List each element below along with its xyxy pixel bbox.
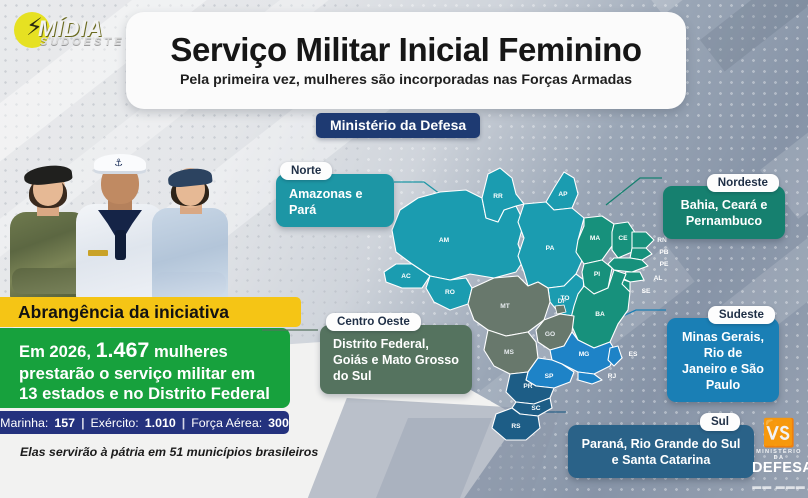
state-label-SP: SP <box>545 373 554 380</box>
state-label-SE: SE <box>642 288 651 295</box>
state-RN[interactable] <box>632 232 654 248</box>
statistic-line-1: Em 2026, 1.467 mulheres <box>19 337 278 364</box>
callout-sul-tag: Sul <box>700 413 740 431</box>
callout-nordeste-tag: Nordeste <box>707 174 779 192</box>
breakdown-label-exercito: Exército: <box>91 416 139 430</box>
state-label-RJ: RJ <box>608 373 617 380</box>
state-label-PI: PI <box>594 271 600 278</box>
state-label-MG: MG <box>579 351 590 358</box>
coat-of-arms-icon: 🆚​ <box>752 420 806 447</box>
military-women-photo: ⚓ <box>0 150 228 300</box>
state-label-GO: GO <box>545 331 555 338</box>
state-label-PA: PA <box>546 245 555 252</box>
breakdown-label-marinha: Marinha: <box>0 416 48 430</box>
callout-centro-oeste[interactable]: Centro Oeste Distrito Federal, Goiás e M… <box>320 325 472 394</box>
state-label-PE: PE <box>660 261 669 268</box>
state-label-AM: AM <box>439 237 450 244</box>
state-label-MS: MS <box>504 349 514 356</box>
navy-tie <box>115 230 126 260</box>
state-label-DF: DF <box>558 298 567 305</box>
state-label-AL: AL <box>654 275 663 282</box>
anchor-icon: ⚓ <box>114 159 123 169</box>
brazil-map-svg: RR AP AM PA AC RO TO MA CE PI BA RN PB P… <box>378 160 678 445</box>
state-label-CE: CE <box>618 235 628 242</box>
brazil-region-map: RR AP AM PA AC RO TO MA CE PI BA RN PB P… <box>378 160 678 445</box>
breakdown-value-exercito: 1.010 <box>145 416 176 430</box>
callout-sudeste-text: Minas Gerais, Rio de Janeiro e São Paulo <box>667 318 779 402</box>
callout-norte-text: Amazonas e Pará <box>276 174 394 227</box>
callout-norte-tag: Norte <box>280 162 332 180</box>
defesa-line2: DEFESA <box>752 461 806 476</box>
defesa-dashes: ▬▬ ▬▬▬ <box>752 481 806 491</box>
callout-centro-oeste-tag: Centro Oeste <box>326 313 421 331</box>
state-label-RO: RO <box>445 289 455 296</box>
person-airforce <box>152 170 228 300</box>
panel-footnote: Elas servirão à pátria em 51 municípios … <box>20 445 318 459</box>
state-label-ES: ES <box>629 351 638 358</box>
callout-nordeste-text: Bahia, Ceará e Pernambuco <box>663 186 785 239</box>
state-label-BA: BA <box>595 311 605 318</box>
callout-nordeste[interactable]: Nordeste Bahia, Ceará e Pernambuco <box>663 186 785 239</box>
callout-sudeste-tag: Sudeste <box>708 306 775 324</box>
callout-centro-oeste-text: Distrito Federal, Goiás e Mato Grosso do… <box>320 325 472 394</box>
statistic-line-2: prestarão o serviço militar em <box>19 364 278 385</box>
state-label-SC: SC <box>531 405 540 412</box>
callout-sul-text: Paraná, Rio Grande do Sul e Santa Catari… <box>568 425 754 478</box>
navy-nametag <box>88 250 108 256</box>
breakdown-separator: | <box>182 416 185 430</box>
title-card: Serviço Militar Inicial Feminino Pela pr… <box>126 12 686 109</box>
state-label-MA: MA <box>590 235 600 242</box>
infographic-canvas: ⚡ MÍDIA SUDOESTE Serviço Militar Inicial… <box>0 0 808 498</box>
midia-sudoeste-logo[interactable]: ⚡ MÍDIA SUDOESTE <box>14 8 118 54</box>
breakdown-value-marinha: 157 <box>54 416 75 430</box>
state-label-RS: RS <box>511 423 521 430</box>
state-label-PR: PR <box>523 383 532 390</box>
panel-heading: Abrangência da iniciativa <box>18 302 229 323</box>
page-title: Serviço Militar Inicial Feminino <box>170 33 641 68</box>
airforce-arms <box>154 272 226 296</box>
person-navy: ⚓ <box>76 158 164 300</box>
statistic-prefix: Em 2026, <box>19 342 96 361</box>
callout-sul[interactable]: Sul Paraná, Rio Grande do Sul e Santa Ca… <box>568 425 754 478</box>
state-label-RR: RR <box>493 193 503 200</box>
panel-heading-bar: Abrangência da iniciativa <box>0 297 301 327</box>
statistic-suffix: mulheres <box>149 342 227 361</box>
defesa-line1: MINISTÉRIO DA <box>752 449 806 461</box>
statistic-number: 1.467 <box>96 338 150 362</box>
statistic-line-3: 13 estados e no Distrito Federal <box>19 384 278 405</box>
breakdown-separator: | <box>81 416 84 430</box>
ministerio-da-defesa-logo: 🆚​ MINISTÉRIO DA DEFESA ▬▬ ▬▬▬ <box>752 420 806 492</box>
state-label-AC: AC <box>401 273 411 280</box>
callout-norte[interactable]: Norte Amazonas e Pará <box>276 174 394 227</box>
state-label-MT: MT <box>500 303 510 310</box>
callout-sudeste[interactable]: Sudeste Minas Gerais, Rio de Janeiro e S… <box>667 318 779 402</box>
statistics-box: Em 2026, 1.467 mulheres prestarão o serv… <box>0 328 290 408</box>
state-label-PB: PB <box>659 249 668 256</box>
breakdown-label-forca-aerea: Força Aérea: <box>191 416 262 430</box>
state-label-AP: AP <box>558 191 568 198</box>
logo-subtitle: SUDOESTE <box>40 36 125 48</box>
state-RJ[interactable] <box>578 372 602 384</box>
state-DF[interactable] <box>555 305 566 314</box>
page-subtitle: Pela primeira vez, mulheres são incorpor… <box>180 72 632 88</box>
army-arms <box>12 268 86 294</box>
army-beret-icon <box>23 163 73 187</box>
ministry-badge: Ministério da Defesa <box>316 113 480 138</box>
breakdown-value-forca-aerea: 300 <box>268 416 289 430</box>
force-breakdown-bar: Marinha: 157 | Exército: 1.010 | Força A… <box>0 411 289 434</box>
